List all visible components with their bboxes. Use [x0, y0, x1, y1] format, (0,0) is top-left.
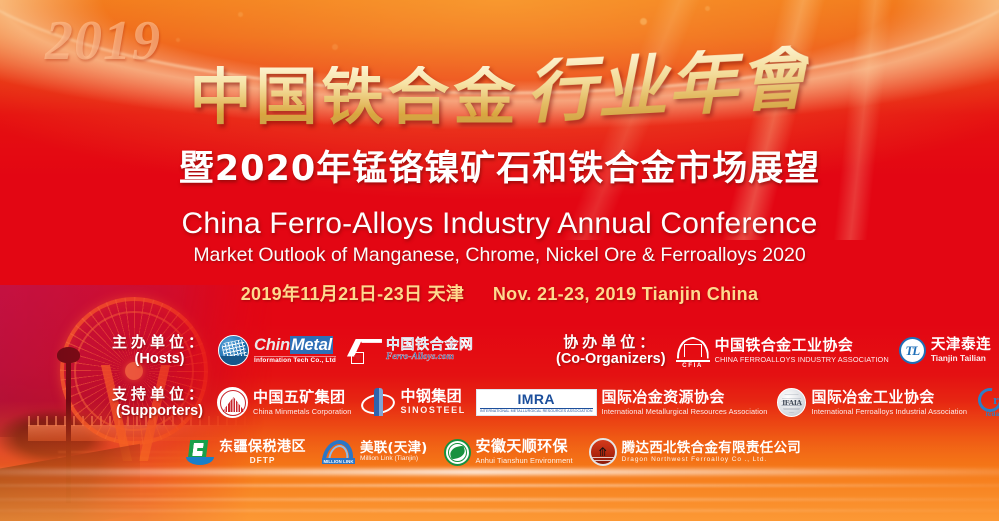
bokeh-dot-icon — [176, 38, 180, 42]
ifaia-name-cn: 国际冶金工业协会 — [811, 390, 967, 406]
tianshun-name-cn: 安徽天顺环保 — [476, 439, 573, 455]
conference-banner: 2019 中国铁合金 行业年會 暨2020年锰铬镍矿石和铁合金市场展望 Chin… — [0, 0, 999, 521]
main-title-row: 中国铁合金 行业年會 — [0, 58, 999, 128]
logo-china-minmetals[interactable]: 中国五矿集团 China Minmetals Corporation — [217, 387, 351, 418]
bokeh-dot-icon — [705, 6, 710, 11]
main-title-english: China Ferro-Alloys Industry Annual Confe… — [0, 207, 999, 241]
tl-monogram-icon: TL — [899, 337, 926, 364]
co-organizers-label-cn: 协办单位： — [556, 334, 666, 351]
million-link-name-en: Million Link (Tianjin) — [360, 456, 428, 463]
dateline: 2019年11月21日-23日 天津 Nov. 21-23, 2019 Tian… — [0, 280, 999, 306]
dftp-name-cn: 东疆保税港区 — [219, 440, 306, 455]
logo-tianjin-tailian[interactable]: TL 天津泰连 Tianjin Tailian — [899, 337, 991, 364]
co-organizers-label: 协办单位： (Co-Organizers) — [556, 334, 666, 367]
supporters-label: 支持单位： (Supporters) — [112, 386, 207, 419]
sponsor-section: 主办单位： (Hosts) ChinMetal Information Tech… — [0, 330, 999, 499]
supporters-label-cn: 支持单位： — [112, 386, 207, 403]
imra-name-cn: 国际冶金资源协会 — [602, 390, 768, 406]
arch-wave-icon: MILLION LINK — [322, 440, 355, 464]
logo-icda[interactable]: ricda 国际铬发展协会 International Chrome Devel… — [977, 388, 999, 417]
bokeh-dot-icon — [238, 12, 243, 17]
logo-dragon-northwest[interactable]: ⤊ 腾达西北铁合金有限责任公司 Dragon Northwest Ferroal… — [589, 438, 801, 466]
tailian-name-cn: 天津泰连 — [931, 338, 991, 353]
hosts-label-en: (Hosts) — [112, 351, 207, 367]
port-gate-icon — [186, 439, 214, 466]
million-link-name-cn: 美联(天津) — [360, 441, 428, 455]
subtitle-chinese: 暨2020年锰铬镍矿石和铁合金市场展望 — [0, 140, 999, 191]
minmetals-name-en: China Minmetals Corporation — [253, 408, 351, 416]
sponsor-row-supporters-second: 东疆保税港区 DFTP MILLION LINK 美联(天津) Million … — [186, 438, 801, 466]
logo-dftp[interactable]: 东疆保税港区 DFTP — [186, 439, 306, 466]
pillar-ellipse-icon — [361, 388, 395, 418]
minmetals-name-cn: 中国五矿集团 — [253, 390, 351, 406]
mountain-seal-icon — [217, 387, 248, 418]
dragon-northwest-name-cn: 腾达西北铁合金有限责任公司 — [622, 441, 801, 455]
sinosteel-name-en: SINOSTEEL — [400, 406, 465, 415]
cfia-name-en: CHINA FERROALLOYS INDUSTRY ASSOCIATION — [715, 356, 889, 364]
imra-wordmark-icon: IMRA INTERNATIONAL METALLURGICAL RESOURC… — [476, 389, 597, 416]
chinmetal-tagline: Information Tech Co., Ltd — [254, 356, 336, 364]
dateline-chinese: 2019年11月21日-23日 天津 — [241, 284, 465, 304]
sinosteel-name-cn: 中钢集团 — [400, 389, 465, 405]
bokeh-dot-icon — [640, 18, 647, 25]
bird-sun-seal-icon: ⤊ — [589, 438, 617, 466]
dateline-english: Nov. 21-23, 2019 Tianjin China — [493, 284, 758, 304]
main-title-chinese: 中国铁合金 — [189, 66, 519, 128]
subtitle-english: Market Outlook of Manganese, Chrome, Nic… — [0, 244, 999, 267]
cfia-name-cn: 中国铁合金工业协会 — [715, 338, 889, 354]
ifaia-name-en: International Ferroalloys Industrial Ass… — [811, 408, 967, 416]
logo-ifaia[interactable]: IFAIA 国际冶金工业协会 International Ferroalloys… — [777, 388, 967, 417]
logo-sinosteel[interactable]: 中钢集团 SINOSTEEL — [361, 388, 465, 418]
imra-name-en: International Metallurgical Resources As… — [602, 408, 768, 416]
main-title-calligraphy: 行业年會 — [524, 45, 811, 130]
ferro-alloys-name-cn: 中国铁合金网 — [386, 338, 474, 353]
logo-anhui-tianshun[interactable]: 安徽天顺环保 Anhui Tianshun Environment — [444, 439, 573, 466]
tailian-name-en: Tianjin Tailian — [931, 354, 991, 363]
hosts-label: 主办单位： (Hosts) — [112, 334, 207, 367]
dftp-name-en: DFTP — [219, 456, 306, 465]
light-streak-decoration — [0, 509, 999, 512]
sponsor-row-co-organizers: 协办单位： (Co-Organizers) CFIA 中国铁合金工业协会 CHI… — [556, 334, 991, 367]
tianshun-name-en: Anhui Tianshun Environment — [476, 457, 573, 465]
hosts-label-cn: 主办单位： — [112, 334, 207, 351]
sponsor-row-supporters: 支持单位： (Supporters) 中国五矿集团 China Minmetal… — [112, 386, 999, 419]
ferro-alloys-name-en: Ferro-Alloys.com — [386, 353, 474, 363]
headline-block: 中国铁合金 行业年會 暨2020年锰铬镍矿石和铁合金市场展望 China Fer… — [0, 58, 999, 306]
logo-million-link[interactable]: MILLION LINK 美联(天津) Million Link (Tianji… — [322, 440, 428, 464]
logo-ferro-alloys[interactable]: 中国铁合金网 Ferro-Alloys.com — [347, 338, 474, 364]
swoosh-icon — [347, 338, 381, 364]
supporters-label-en: (Supporters) — [112, 403, 207, 419]
logo-imra[interactable]: IMRA INTERNATIONAL METALLURGICAL RESOURC… — [476, 389, 768, 416]
logo-cfia[interactable]: CFIA 中国铁合金工业协会 CHINA FERROALLOYS INDUSTR… — [676, 336, 889, 366]
globe-seal-icon: IFAIA — [777, 388, 806, 417]
arch-icon: CFIA — [676, 336, 710, 366]
chinmetal-wordmark: ChinMetal — [254, 337, 336, 354]
bokeh-dot-icon — [332, 44, 338, 50]
dragon-northwest-name-en: Dragon Northwest Ferroalloy Co ., Ltd. — [622, 457, 801, 464]
green-seal-icon — [444, 439, 471, 466]
chromium-c-icon: ricda — [977, 388, 999, 417]
sponsor-row-hosts: 主办单位： (Hosts) ChinMetal Information Tech… — [112, 334, 474, 367]
globe-grid-icon — [218, 335, 249, 366]
co-organizers-label-en: (Co-Organizers) — [556, 351, 666, 367]
logo-chinmetal[interactable]: ChinMetal Information Tech Co., Ltd — [218, 335, 336, 366]
